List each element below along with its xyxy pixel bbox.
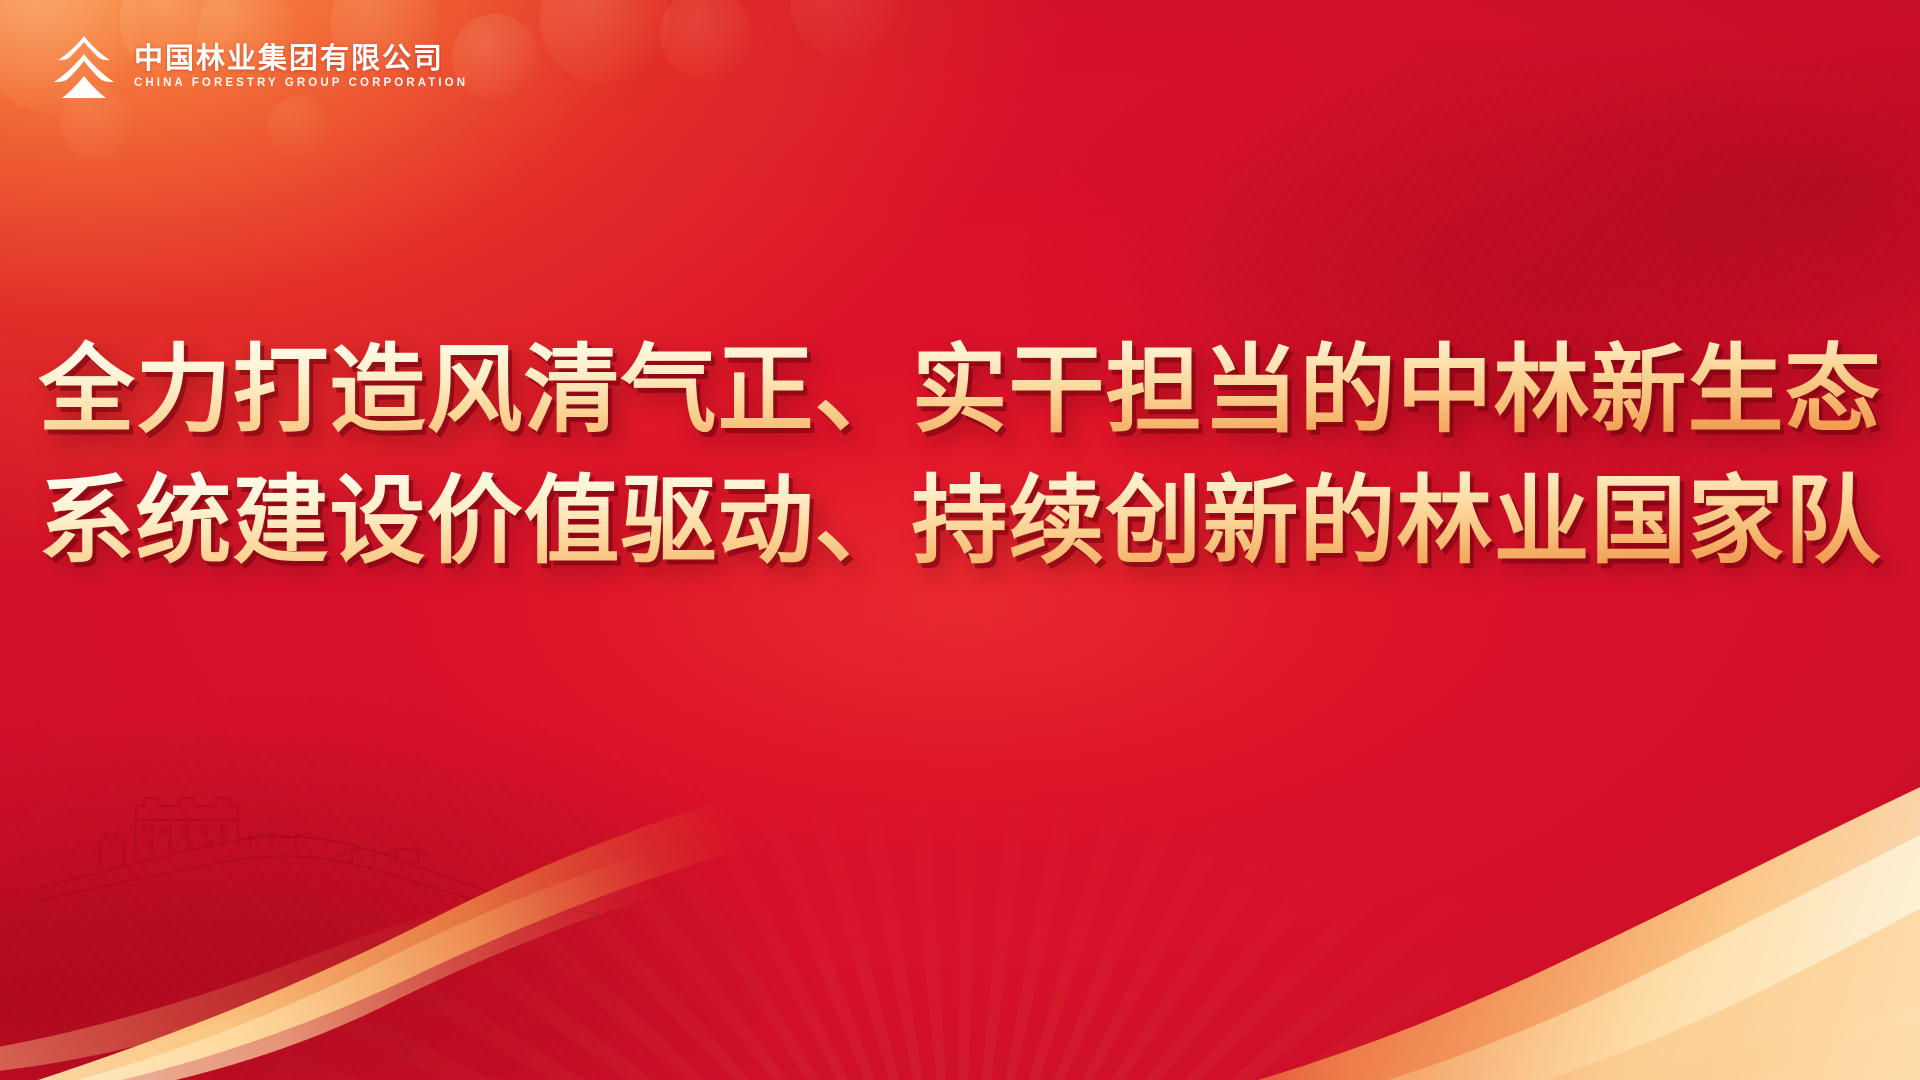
logo-company-name-en: CHINA FORESTRY GROUP CORPORATION xyxy=(134,78,468,90)
gold-ribbon-swoosh-left-icon xyxy=(0,770,820,1080)
bokeh-light-circle-icon xyxy=(540,0,670,84)
gold-ribbon-swoosh-right-icon xyxy=(1030,700,1920,1080)
bokeh-light-circle-icon xyxy=(790,0,900,58)
headline-line-1: 全力打造风清气正、实干担当的中林新生态 xyxy=(39,336,1882,445)
headline-line-2: 系统建设价值驱动、持续创新的林业国家队 xyxy=(39,467,1882,576)
bokeh-light-circle-icon xyxy=(660,0,752,80)
great-wall-watermark-icon xyxy=(40,700,600,930)
headline-block: 全力打造风清气正、实干担当的中林新生态 系统建设价值驱动、持续创新的林业国家队 xyxy=(0,336,1920,577)
logo-company-name-cn: 中国林业集团有限公司 xyxy=(134,45,468,74)
celebration-banner: 中国林业集团有限公司 CHINA FORESTRY GROUP CORPORAT… xyxy=(0,0,1920,1080)
bokeh-light-circle-icon xyxy=(268,96,330,158)
pagoda-tree-mark-icon xyxy=(52,34,116,100)
company-logo: 中国林业集团有限公司 CHINA FORESTRY GROUP CORPORAT… xyxy=(52,34,468,100)
mountain-landscape-watermark-left-icon xyxy=(0,520,1130,1080)
